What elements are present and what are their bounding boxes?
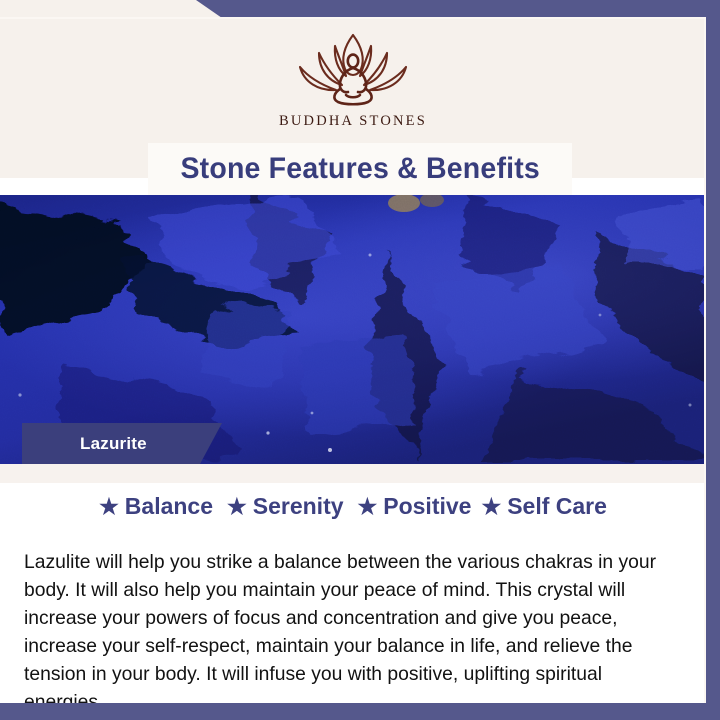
benefit-serenity: ★ Serenity bbox=[227, 493, 344, 520]
lotus-meditation-icon bbox=[278, 31, 428, 109]
benefit-label: Serenity bbox=[253, 493, 344, 520]
stone-description: Lazulite will help you strike a balance … bbox=[24, 548, 681, 704]
content-card: BUDDHA STONES Stone Features & Benefits bbox=[0, 17, 706, 703]
corner-accent bbox=[0, 0, 222, 18]
benefits-row: ★ Balance ★ Serenity ★ Positive ★ Self C… bbox=[0, 493, 706, 520]
brand-logo: BUDDHA STONES bbox=[0, 31, 706, 130]
star-icon: ★ bbox=[227, 496, 247, 518]
star-icon: ★ bbox=[481, 496, 501, 518]
benefit-self-care: ★ Self Care bbox=[481, 493, 606, 520]
divider-strip bbox=[0, 464, 706, 483]
stone-name-label: Lazurite bbox=[80, 434, 147, 454]
star-icon: ★ bbox=[358, 496, 378, 518]
page-title: Stone Features & Benefits bbox=[180, 152, 540, 186]
star-icon: ★ bbox=[99, 496, 119, 518]
title-plaque: Stone Features & Benefits bbox=[148, 143, 572, 195]
benefit-positive: ★ Positive bbox=[358, 493, 472, 520]
benefit-label: Positive bbox=[383, 493, 471, 520]
infographic-page: BUDDHA STONES Stone Features & Benefits bbox=[0, 0, 720, 720]
benefit-balance: ★ Balance bbox=[99, 493, 213, 520]
stone-name-banner: Lazurite bbox=[22, 423, 222, 464]
brand-name: BUDDHA STONES bbox=[279, 113, 427, 130]
benefit-label: Self Care bbox=[507, 493, 607, 520]
benefit-label: Balance bbox=[125, 493, 213, 520]
